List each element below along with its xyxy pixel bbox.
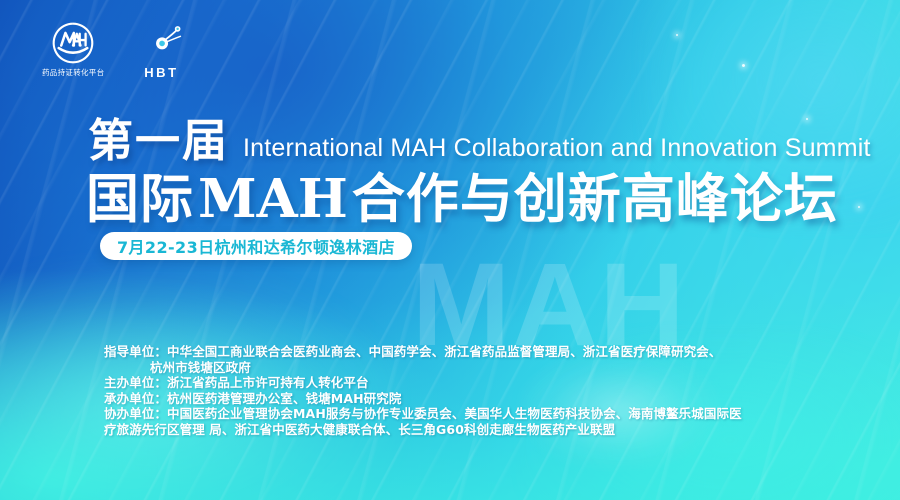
logo-mah-platform: 药品持证转化平台 bbox=[42, 22, 104, 78]
organizer-line: 主办单位：浙江省药品上市许可持有人转化平台 bbox=[104, 375, 804, 391]
date-venue-badge: 7月22-23日杭州和达希尔顿逸林酒店 bbox=[100, 232, 412, 260]
conference-banner: MAH 药品持证转化平台 HBT bbox=[0, 0, 900, 500]
date-venue-text: 7月22-23日杭州和达希尔顿逸林酒店 bbox=[117, 234, 395, 258]
mah-circle-logo-icon bbox=[52, 22, 94, 64]
sparkle-icon bbox=[676, 34, 678, 36]
title-cjk-part2: 合作与创新高峰论坛 bbox=[352, 157, 838, 233]
organizers-block: 指导单位：中华全国工商业联合会医药业商会、中国药学会、浙江省药品监督管理局、浙江… bbox=[104, 344, 804, 438]
organizer-line: 指导单位：中华全国工商业联合会医药业商会、中国药学会、浙江省药品监督管理局、浙江… bbox=[104, 344, 804, 360]
title-mah-serif: MAH bbox=[198, 168, 348, 230]
logo-hbt: HBT bbox=[138, 22, 184, 80]
logo-hbt-caption: HBT bbox=[144, 65, 178, 80]
organizer-line: 协办单位：中国医药企业管理协会MAH服务与协作专业委员会、美国华人生物医药科技协… bbox=[104, 406, 804, 422]
organizer-line: 疗旅游先行区管理 局、浙江省中医药大健康联合体、长三角G60科创走廊生物医药产业… bbox=[104, 422, 804, 438]
sparkle-icon bbox=[858, 206, 860, 208]
hbt-swirl-logo-icon bbox=[138, 25, 184, 59]
title-line-2: 国际 MAH 合作与创新高峰论坛 bbox=[86, 157, 838, 233]
sparkle-icon bbox=[742, 64, 745, 67]
organizer-line: 杭州市钱塘区政府 bbox=[104, 360, 804, 376]
logo-row: 药品持证转化平台 HBT bbox=[42, 22, 184, 80]
organizer-line: 承办单位：杭州医药港管理办公室、钱塘MAH研究院 bbox=[104, 391, 804, 407]
logo-mah-caption: 药品持证转化平台 bbox=[42, 67, 104, 78]
title-cjk-part1: 国际 bbox=[86, 157, 194, 233]
